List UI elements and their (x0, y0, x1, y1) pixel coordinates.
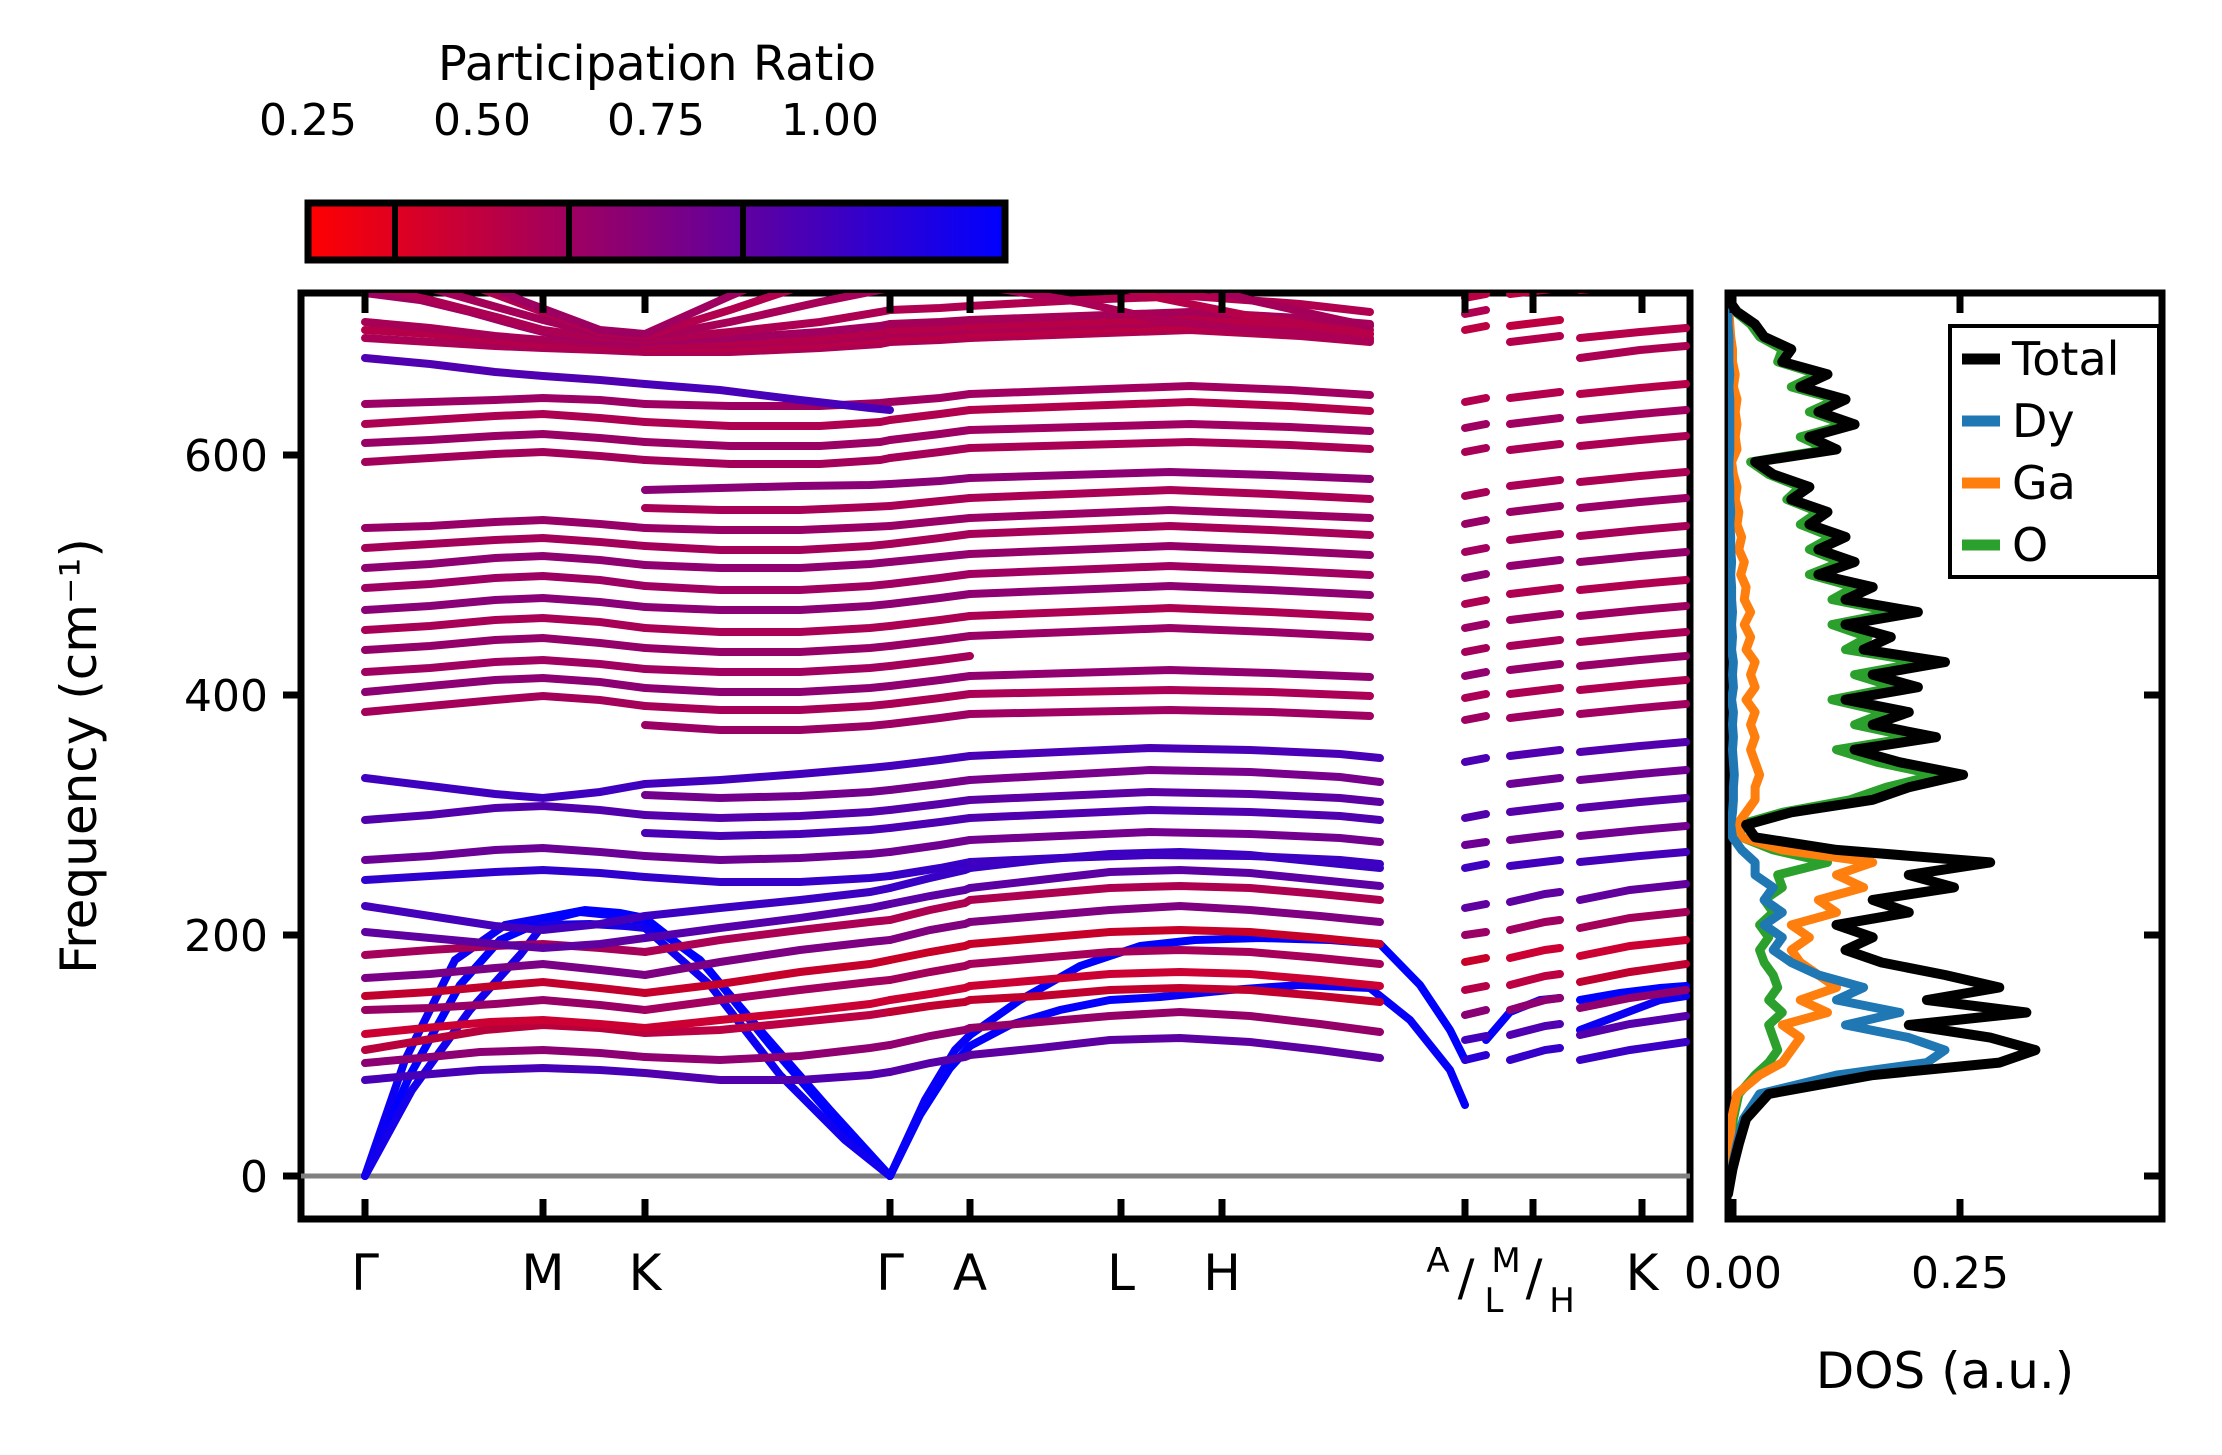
band-hi-57 (1465, 624, 1486, 628)
y-tick-label-0: 0 (240, 1152, 268, 1203)
dos-x-axis-label: DOS (a.u.) (1816, 1342, 2075, 1400)
band-y-axis-label: Frequency (cm⁻¹) (50, 538, 108, 974)
colorbar-title: Participation Ratio (438, 36, 876, 92)
x-tick-label-gamma-1: Γ (351, 1244, 379, 1302)
band-hi-61 (1465, 520, 1486, 524)
dos-x-tick-label-1: 0.25 (1911, 1248, 2009, 1299)
band-hi-56 (1465, 648, 1486, 652)
dos-x-tick-label-0: 0.00 (1684, 1248, 1782, 1299)
band-mid-25 (1465, 864, 1486, 868)
band-opt-gap2 (1465, 1036, 1486, 1040)
colorbar-gradient[interactable] (308, 203, 1005, 260)
band-opt-gap3 (1465, 1010, 1486, 1015)
band-opt-gap6 (1465, 932, 1486, 935)
dos-legend[interactable]: Total Dy Ga O (1950, 326, 2159, 577)
x-tick-label-m-over-h-numerator: M (1491, 1241, 1520, 1281)
band-opt-gap5 (1465, 958, 1486, 962)
band-hi-58 (1465, 600, 1486, 604)
legend-label-ga[interactable]: Ga (2012, 456, 2076, 510)
x-tick-label-a-over-l-slash: / (1458, 1249, 1475, 1307)
y-tick-label-600: 600 (184, 431, 268, 482)
band-opt-gap7 (1465, 904, 1486, 908)
x-tick-label-m-over-h-slash: / (1526, 1249, 1543, 1307)
band-hi-25 (645, 506, 890, 510)
band-up-4 (365, 398, 645, 404)
band-hi-55 (1465, 672, 1486, 676)
x-tick-label-a-over-l-numerator: A (1426, 1241, 1449, 1281)
x-tick-label-a-over-l-denominator: L (1485, 1281, 1504, 1321)
band-mid-27 (1465, 814, 1486, 818)
phonon-figure: Participation Ratio 0.25 0.50 0.75 1.00 (0, 0, 2222, 1455)
band-mid-26 (1465, 842, 1486, 845)
legend-label-o[interactable]: O (2012, 518, 2048, 572)
x-tick-label-h: H (1203, 1244, 1241, 1302)
band-hi-53 (1465, 716, 1486, 720)
band-opt-gap1 (1465, 1055, 1486, 1060)
band-up-18 (1465, 424, 1486, 428)
band-hi-54 (1465, 694, 1486, 698)
band-top-23 (890, 320, 970, 324)
legend-label-dy[interactable]: Dy (2012, 394, 2075, 448)
band-top-38 (1465, 326, 1486, 330)
band-hi-59 (1465, 574, 1486, 578)
band-hi-24 (645, 526, 890, 530)
band-hi-62 (1465, 492, 1486, 496)
figure-canvas: Participation Ratio 0.25 0.50 0.75 1.00 (0, 0, 2222, 1455)
x-tick-label-gamma-2: Γ (876, 1244, 904, 1302)
x-tick-label-m: M (521, 1244, 564, 1302)
x-tick-label-m-over-h-denominator: H (1549, 1281, 1575, 1321)
legend-label-total[interactable]: Total (2011, 332, 2119, 386)
band-top-24 (890, 306, 970, 310)
x-tick-label-l: L (1107, 1244, 1135, 1302)
band-up-17 (1465, 448, 1486, 452)
y-tick-label-400: 400 (184, 671, 268, 722)
band-mid-29 (1465, 758, 1486, 762)
band-up-19 (1465, 398, 1486, 402)
x-tick-label-k-2: K (1626, 1244, 1660, 1302)
y-tick-label-200: 200 (184, 911, 268, 962)
colorbar-tick-label-3: 1.00 (781, 95, 879, 146)
band-opt-gap4 (1465, 986, 1486, 990)
colorbar-tick-label-2: 0.75 (607, 95, 705, 146)
colorbar-tick-label-0: 0.25 (259, 95, 357, 146)
colorbar-tick-label-1: 0.50 (433, 95, 531, 146)
band-hi-60 (1465, 548, 1486, 552)
x-tick-label-a: A (953, 1244, 987, 1302)
x-tick-label-k-1: K (629, 1244, 663, 1302)
